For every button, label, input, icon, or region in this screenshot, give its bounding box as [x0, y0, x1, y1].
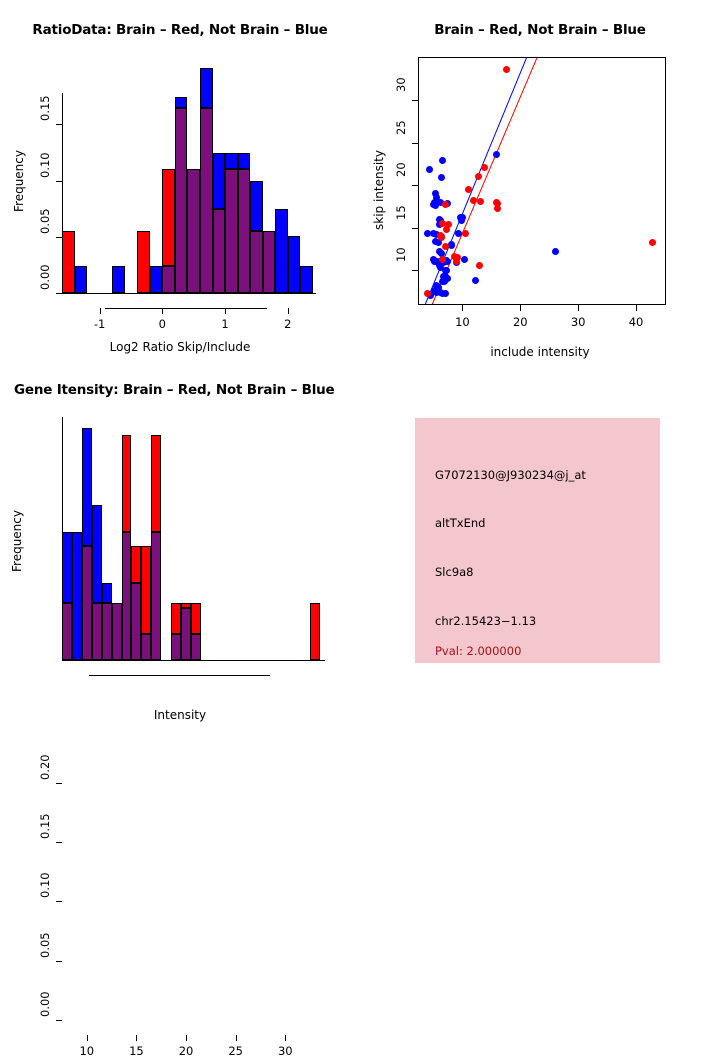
axis-tick	[285, 1035, 286, 1041]
histogram-bar-overlap	[200, 108, 213, 293]
axis-tick-label: 1	[221, 317, 228, 331]
axis-tick-label: 30	[571, 315, 586, 329]
scatter-point	[503, 66, 510, 73]
histogram-bar	[191, 603, 201, 634]
gene-ylabel: Frequency	[10, 510, 24, 572]
axis-tick	[412, 143, 418, 144]
histogram-bar	[112, 266, 125, 293]
axis-tick	[462, 305, 463, 311]
histogram-bar	[150, 266, 163, 293]
axis-tick-label: 0.00	[38, 261, 52, 293]
axis-tick	[236, 1035, 237, 1041]
axis-tick	[520, 305, 521, 311]
histogram-bar	[82, 428, 92, 547]
histogram-bar-overlap	[181, 608, 191, 660]
scatter-ylabel: skip intensity	[372, 150, 386, 230]
scatter-title: Brain – Red, Not Brain – Blue	[360, 22, 720, 38]
histogram-bar	[162, 169, 175, 266]
histogram-bar-overlap	[82, 546, 92, 660]
axis-tick-label: 40	[629, 315, 644, 329]
axis-tick-label: 15	[394, 198, 408, 228]
scatter-xlabel: include intensity	[360, 345, 720, 359]
gene-intensity-title: Gene Itensity: Brain – Red, Not Brain – …	[4, 382, 356, 398]
axis-tick-label: 30	[278, 1044, 293, 1058]
histogram-bar	[250, 181, 263, 231]
histogram-bar	[275, 209, 288, 293]
histogram-bar	[137, 231, 150, 293]
axis-tick	[56, 181, 62, 182]
scatter-point	[461, 256, 468, 263]
histogram-bar	[200, 68, 213, 108]
histogram-bar	[72, 532, 82, 660]
scatter-point	[442, 290, 449, 297]
axis-tick-label: 20	[394, 155, 408, 185]
histogram-bar	[131, 546, 141, 583]
axis-tick	[56, 124, 62, 125]
ratio-xaxis-rule	[105, 308, 267, 309]
axis-tick	[136, 1035, 137, 1041]
axis-tick-label: 25	[228, 1044, 243, 1058]
histogram-bar	[75, 266, 88, 293]
axis-tick-label: 10	[394, 240, 408, 270]
axis-tick	[578, 305, 579, 311]
histogram-bar-overlap	[171, 634, 181, 660]
ratio-histogram-title: RatioData: Brain – Red, Not Brain – Blue	[0, 22, 360, 38]
axis-tick	[412, 228, 418, 229]
scatter-point	[439, 256, 446, 263]
scatter-point	[442, 201, 449, 208]
axis-tick	[225, 308, 226, 314]
event-type-text: altTxEnd	[435, 516, 485, 530]
scatter-point	[494, 205, 501, 212]
probe-id-text: G7072130@J930234@j_at	[435, 468, 586, 482]
scatter-point	[552, 248, 559, 255]
axis-tick-label: -1	[94, 317, 105, 331]
axis-tick-label: 2	[284, 317, 291, 331]
axis-tick	[162, 308, 163, 314]
histogram-bar	[175, 97, 188, 109]
scatter-point	[462, 230, 469, 237]
scatter-point	[445, 221, 452, 228]
histogram-bar	[141, 546, 151, 634]
histogram-bar	[225, 153, 238, 169]
axis-tick	[56, 961, 62, 962]
histogram-bar-overlap	[112, 603, 122, 660]
probe-info-panel: G7072130@J930234@j_at altTxEnd Slc9a8 ch…	[415, 418, 660, 663]
axis-tick	[412, 100, 418, 101]
axis-tick-label: 0.15	[38, 92, 52, 124]
histogram-bar-overlap	[225, 169, 238, 293]
ratio-histogram-panel: RatioData: Brain – Red, Not Brain – Blue…	[0, 0, 360, 360]
axis-tick-label: 15	[129, 1044, 144, 1058]
histogram-bar-overlap	[151, 532, 161, 660]
scatter-plot-area	[419, 58, 665, 304]
ratio-xaxis-line	[62, 293, 316, 294]
histogram-bar-overlap	[122, 532, 132, 660]
axis-tick-label: 0.10	[38, 149, 52, 181]
axis-tick	[186, 1035, 187, 1041]
axis-tick-label: 0.05	[38, 205, 52, 237]
histogram-bar-overlap	[92, 603, 102, 660]
histogram-bar	[62, 231, 75, 293]
scatter-point	[470, 197, 477, 204]
histogram-bar	[122, 435, 132, 532]
axis-tick	[288, 308, 289, 314]
axis-tick	[56, 901, 62, 902]
gene-symbol-text: Slc9a8	[435, 565, 474, 579]
histogram-bar	[151, 435, 161, 532]
histogram-bar	[288, 236, 301, 293]
axis-tick-label: 25	[394, 113, 408, 143]
axis-tick-label: 20	[179, 1044, 194, 1058]
scatter-point	[441, 278, 448, 285]
gene-intensity-plot-area	[48, 410, 328, 660]
axis-tick	[100, 308, 101, 314]
ratio-xlabel: Log2 Ratio Skip/Include	[0, 340, 360, 354]
axis-tick-label: 0.05	[38, 929, 52, 961]
histogram-bar	[310, 603, 320, 660]
histogram-bar-overlap	[162, 266, 175, 293]
histogram-bar-overlap	[131, 583, 141, 660]
scatter-point	[438, 234, 445, 241]
scatter-point	[475, 173, 482, 180]
scatter-point	[493, 151, 500, 158]
axis-tick	[412, 270, 418, 271]
axis-tick	[87, 1035, 88, 1041]
histogram-bar	[300, 266, 313, 293]
histogram-bar-overlap	[141, 634, 151, 660]
scatter-point	[438, 174, 445, 181]
histogram-bar-overlap	[62, 603, 72, 660]
scatter-point	[426, 166, 433, 173]
axis-tick	[56, 783, 62, 784]
axis-tick-label: 10	[455, 315, 470, 329]
scatter-point	[472, 277, 479, 284]
histogram-bar-overlap	[263, 231, 276, 293]
histogram-bar	[213, 153, 226, 209]
axis-tick-label: 0.10	[38, 869, 52, 901]
axis-tick	[636, 305, 637, 311]
axis-tick-label: 0.20	[38, 751, 52, 783]
scatter-point	[442, 243, 449, 250]
gene-yaxis-line	[62, 417, 63, 660]
histogram-bar	[102, 583, 112, 603]
ratio-yaxis-line	[62, 93, 63, 293]
scatter-point	[649, 239, 656, 246]
axis-tick-label: 30	[394, 70, 408, 100]
histogram-bar-overlap	[191, 634, 201, 660]
histogram-bar-overlap	[238, 169, 251, 293]
histogram-bar-overlap	[250, 231, 263, 293]
axis-tick-label: 10	[79, 1044, 94, 1058]
histogram-bar	[92, 505, 102, 603]
axis-tick	[412, 185, 418, 186]
scatter-point	[459, 214, 466, 221]
gene-intensity-panel: Gene Itensity: Brain – Red, Not Brain – …	[0, 360, 360, 720]
histogram-bar-overlap	[102, 603, 112, 660]
pval-text: Pval: 2.000000	[435, 644, 521, 658]
axis-tick	[56, 237, 62, 238]
axis-tick	[56, 1020, 62, 1021]
ratio-histogram-plot-area	[52, 55, 322, 295]
intensity-scatter-panel: Brain – Red, Not Brain – Blue 1015202530…	[360, 0, 720, 360]
histogram-bar	[62, 532, 72, 603]
axis-tick-label: 20	[513, 315, 528, 329]
histogram-bar-overlap	[187, 169, 200, 293]
axis-tick-label: 0.15	[38, 810, 52, 842]
axis-tick-label: 0	[159, 317, 166, 331]
scatter-point	[439, 157, 446, 164]
histogram-bar-overlap	[213, 209, 226, 293]
axis-tick	[56, 842, 62, 843]
locus-text: chr2.15423−1.13	[435, 614, 536, 628]
histogram-bar	[238, 153, 251, 169]
histogram-bar	[171, 603, 181, 634]
axis-tick-label: 0.00	[38, 988, 52, 1020]
ratio-ylabel: Frequency	[12, 150, 26, 212]
scatter-point	[476, 262, 483, 269]
gene-xaxis-line	[62, 660, 325, 661]
histogram-bar-overlap	[175, 108, 188, 293]
scatter-point	[477, 198, 484, 205]
gene-xaxis-rule	[89, 675, 270, 676]
